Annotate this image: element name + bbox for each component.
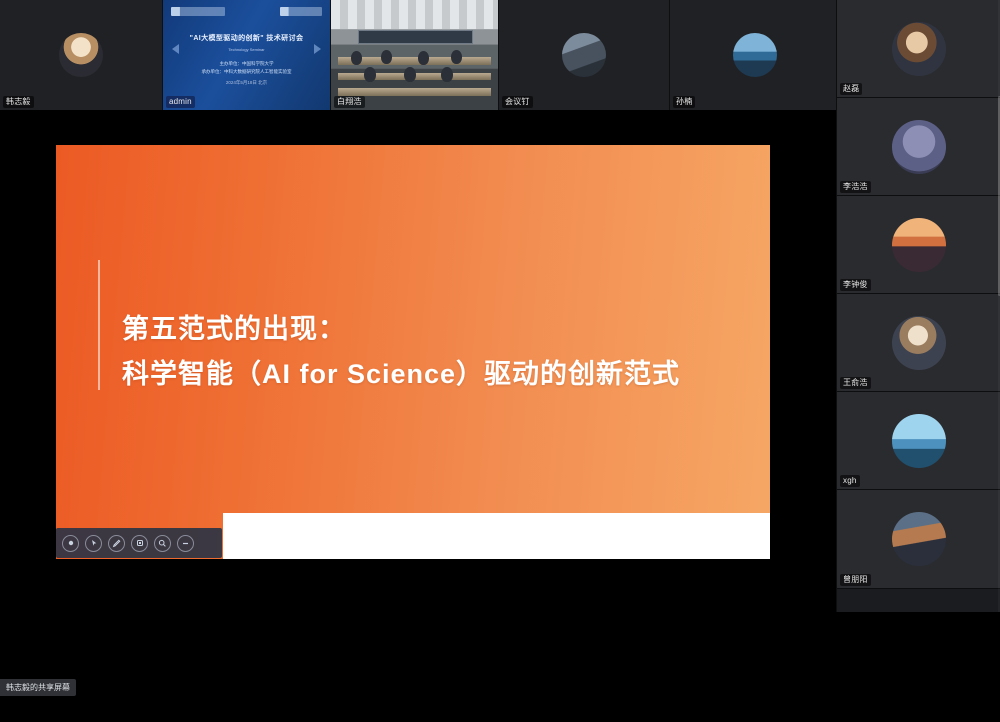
attendee-silhouette	[441, 67, 453, 82]
thumb-slide-date: 2024年5月18日 北京	[163, 80, 330, 86]
ceiling-texture	[331, 0, 498, 29]
thumb-slide-title: "AI大模型驱动的创新" 技术研讨会	[163, 33, 330, 43]
pointer-button[interactable]	[85, 535, 102, 552]
participant-name: 李浩浩	[840, 181, 871, 193]
avatar	[562, 33, 606, 77]
attendee-silhouette	[381, 50, 392, 64]
presentation-slide: 第五范式的出现： 科学智能（AI for Science）驱动的创新范式	[56, 145, 770, 559]
minimize-button[interactable]	[177, 535, 194, 552]
participant-filmstrip[interactable]: 韩志毅 "AI大模型驱动的创新" 技术研讨会 Technology Semina…	[0, 0, 836, 110]
attendee-silhouette	[351, 51, 362, 65]
sidebar-participant-5[interactable]: 曾朋阳	[837, 490, 1000, 589]
room-screen	[358, 30, 474, 44]
shared-screen-stage[interactable]: 第五范式的出现： 科学智能（AI for Science）驱动的创新范式	[0, 110, 836, 612]
participant-name: 李钟俊	[840, 279, 871, 291]
filmstrip-tile-2[interactable]: 白翔浩	[331, 0, 499, 110]
participant-name: admin	[166, 96, 195, 108]
slide-title-line2: 科学智能（AI for Science）驱动的创新范式	[122, 352, 680, 391]
attendee-silhouette	[451, 50, 462, 64]
avatar	[733, 33, 777, 77]
participant-name: 曾朋阳	[840, 574, 871, 586]
filmstrip-tile-4[interactable]: 孙楠	[670, 0, 841, 110]
avatar	[892, 218, 946, 272]
thumb-slide-subtitle: Technology Seminar	[163, 47, 330, 52]
participant-name: 王俞浩	[840, 377, 871, 389]
stage-status-bar: 韩志毅的共享屏幕	[0, 678, 836, 722]
sidebar-participant-0[interactable]: 赵磊	[837, 0, 1000, 98]
filmstrip-tile-3[interactable]: 会议钉	[499, 0, 670, 110]
share-notice: 韩志毅的共享屏幕	[0, 679, 76, 696]
table-row-back	[338, 88, 492, 96]
avatar	[892, 414, 946, 468]
participant-name: 韩志毅	[3, 96, 34, 108]
magnifier-button[interactable]	[154, 535, 171, 552]
slide-content-panel	[223, 513, 770, 559]
participant-name: 赵磊	[840, 83, 862, 95]
avatar	[892, 120, 946, 174]
university-logo-icon	[171, 7, 225, 16]
avatar	[892, 512, 946, 566]
avatar	[892, 22, 946, 76]
sidebar-participant-4[interactable]: xgh	[837, 392, 1000, 490]
annotate-lock-button[interactable]	[62, 535, 79, 552]
sidebar-participant-1[interactable]: 李浩浩	[837, 98, 1000, 196]
participant-sidebar[interactable]: 赵磊 李浩浩 李钟俊 王俞浩 xgh 曾朋阳	[836, 0, 1000, 612]
filmstrip-tile-1[interactable]: "AI大模型驱动的创新" 技术研讨会 Technology Seminar 主办…	[163, 0, 331, 110]
avatar	[59, 33, 103, 77]
participant-name: 白翔浩	[334, 96, 365, 108]
sidebar-participant-2[interactable]: 李钟俊	[837, 196, 1000, 294]
thumb-slide-org-line1: 主办单位：中国科学院大学	[163, 60, 330, 67]
sidebar-participant-3[interactable]: 王俞浩	[837, 294, 1000, 392]
title-accent-rule	[98, 260, 100, 390]
eraser-button[interactable]	[131, 535, 148, 552]
slide-title-line1: 第五范式的出现：	[122, 307, 346, 346]
avatar	[892, 316, 946, 370]
meeting-room-video	[331, 0, 498, 110]
participant-name: 会议钉	[502, 96, 533, 108]
thumb-slide-org-line2: 承办单位：中科大数据研究院人工智能实验室	[163, 68, 330, 75]
shared-slide-thumbnail: "AI大模型驱动的创新" 技术研讨会 Technology Seminar 主办…	[163, 0, 330, 110]
video-conference-window: 韩志毅 "AI大模型驱动的创新" 技术研讨会 Technology Semina…	[0, 0, 1000, 612]
annotation-toolbar[interactable]	[56, 528, 222, 558]
stage-letterbox	[0, 559, 836, 612]
participant-name: 孙楠	[673, 96, 695, 108]
pen-button[interactable]	[108, 535, 125, 552]
participant-name: xgh	[840, 475, 860, 487]
attendee-silhouette	[418, 51, 429, 65]
filmstrip-tile-0[interactable]: 韩志毅	[0, 0, 163, 110]
sponsor-logo-icon	[280, 7, 322, 16]
